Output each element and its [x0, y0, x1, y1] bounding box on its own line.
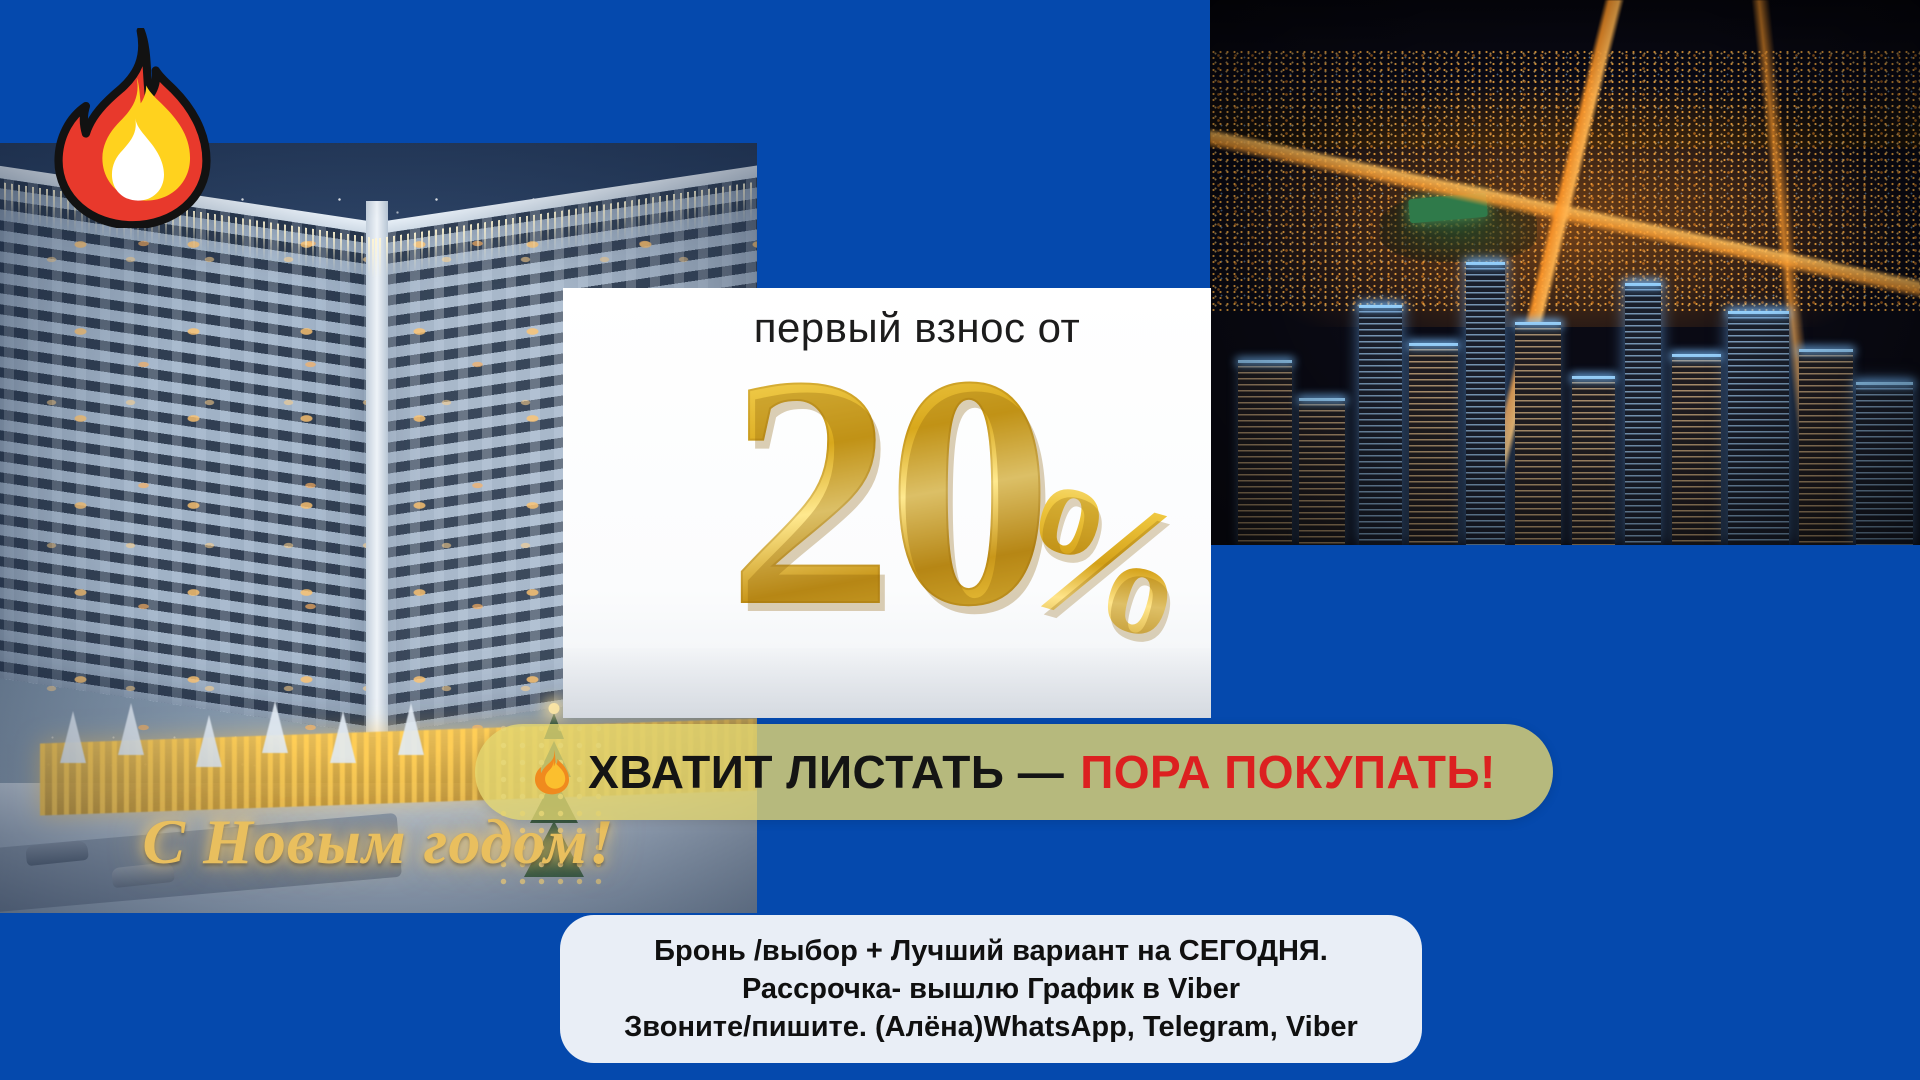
cta-text-primary: ХВАТИТ ЛИСТАТЬ — — [588, 745, 1064, 799]
fire-icon — [532, 749, 572, 795]
cta-banner[interactable]: ХВАТИТ ЛИСТАТЬ — ПОРА ПОКУПАТЬ! — [475, 724, 1553, 820]
fire-icon — [50, 28, 215, 228]
night-city-photo — [1210, 0, 1920, 545]
photo-vignette — [1210, 0, 1920, 545]
info-line-contacts: Звоните/пишите. (Алёна)WhatsApp, Telegra… — [624, 1011, 1358, 1044]
info-line-installment: Рассрочка- вышлю График в Viber — [742, 973, 1240, 1006]
contact-info-card: Бронь /выбор + Лучший вариант на СЕГОДНЯ… — [560, 915, 1422, 1063]
reflective-floor — [563, 648, 1211, 718]
info-line-booking: Бронь /выбор + Лучший вариант на СЕГОДНЯ… — [654, 935, 1328, 968]
down-payment-card: первый взнос от 20 % — [563, 288, 1211, 718]
cta-text-highlight: ПОРА ПОКУПАТЬ! — [1080, 745, 1496, 799]
